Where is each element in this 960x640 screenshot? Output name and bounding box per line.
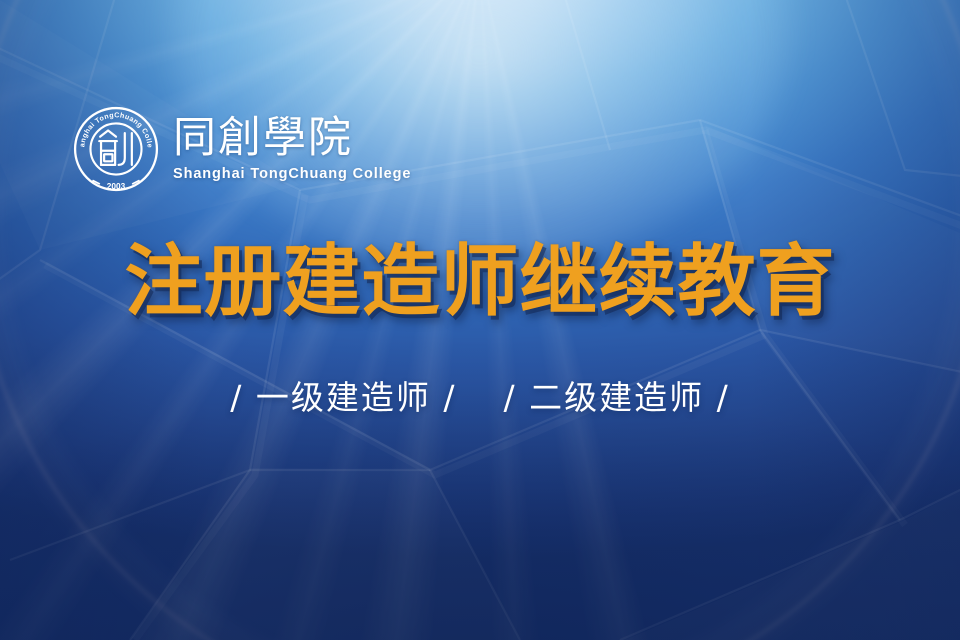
svg-text:2003: 2003 <box>107 182 126 191</box>
brand-text-block: 同創學院 Shanghai TongChuang College <box>173 116 411 181</box>
brand-name-en: Shanghai TongChuang College <box>173 166 411 182</box>
banner-title: 注册建造师继续教育 <box>0 243 960 321</box>
subtitle-item-level-one: / 一级建造师 / <box>230 378 456 417</box>
banner-subtitle: / 一级建造师 / / 二级建造师 / <box>0 378 960 418</box>
college-seal-icon: Shanghai TongChuang College 2003 <box>72 105 160 193</box>
brand-logo-lockup[interactable]: Shanghai TongChuang College 2003 <box>72 105 411 193</box>
brand-name-cn: 同創學院 <box>173 116 353 161</box>
subtitle-item-level-two: / 二级建造师 / <box>504 378 730 417</box>
banner-content: Shanghai TongChuang College 2003 <box>0 0 960 640</box>
promo-banner: Shanghai TongChuang College 2003 <box>0 0 960 640</box>
